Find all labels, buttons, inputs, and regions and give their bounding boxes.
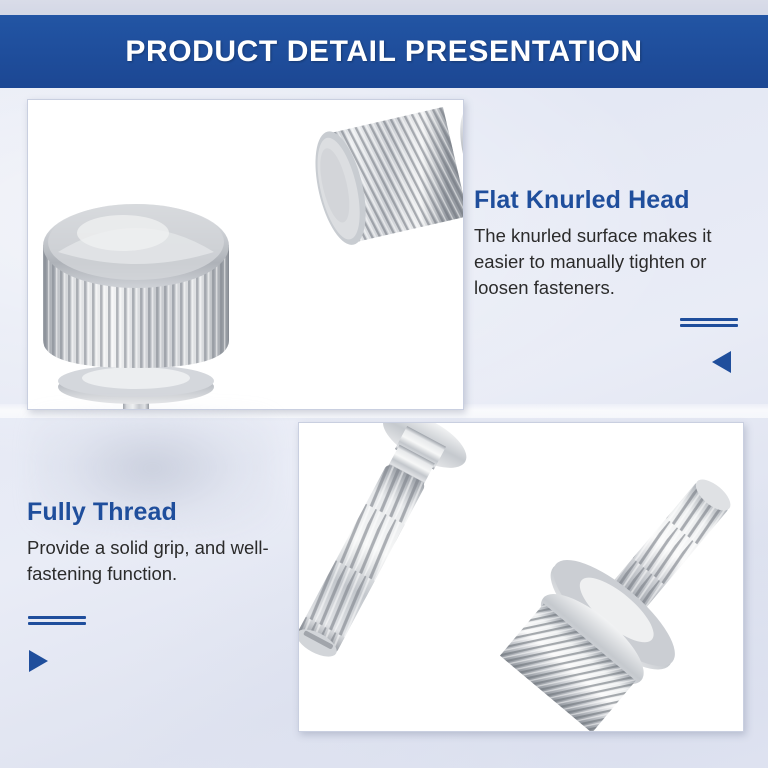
front-knurled-screw [43,204,229,409]
triangle-right-icon [29,650,48,672]
double-line-accent [28,616,86,625]
feature-flat-knurled-head: Flat Knurled Head The knurled surface ma… [474,186,756,301]
accent-line [28,616,86,619]
feature-body: Provide a solid grip, and well-fastening… [27,535,309,588]
knurled-head-photo [27,99,464,410]
double-line-accent [680,318,738,327]
accent-line [680,324,738,327]
feature-title: Fully Thread [27,498,309,528]
accent-line [28,622,86,625]
header-banner: PRODUCT DETAIL PRESENTATION [0,15,768,88]
page-title: PRODUCT DETAIL PRESENTATION [125,35,642,69]
background-top-strip [0,0,768,15]
triangle-left-icon [712,351,731,373]
presentation-canvas: PRODUCT DETAIL PRESENTATION [0,0,768,768]
knurled-head-illustration [28,100,463,409]
feature-title: Flat Knurled Head [474,186,756,216]
accent-line [680,318,738,321]
threaded-shaft-illustration [299,423,743,731]
threaded-shaft-photo [298,422,744,732]
feature-body: The knurled surface makes it easier to m… [474,223,756,302]
feature-fully-thread: Fully Thread Provide a solid grip, and w… [27,498,309,587]
